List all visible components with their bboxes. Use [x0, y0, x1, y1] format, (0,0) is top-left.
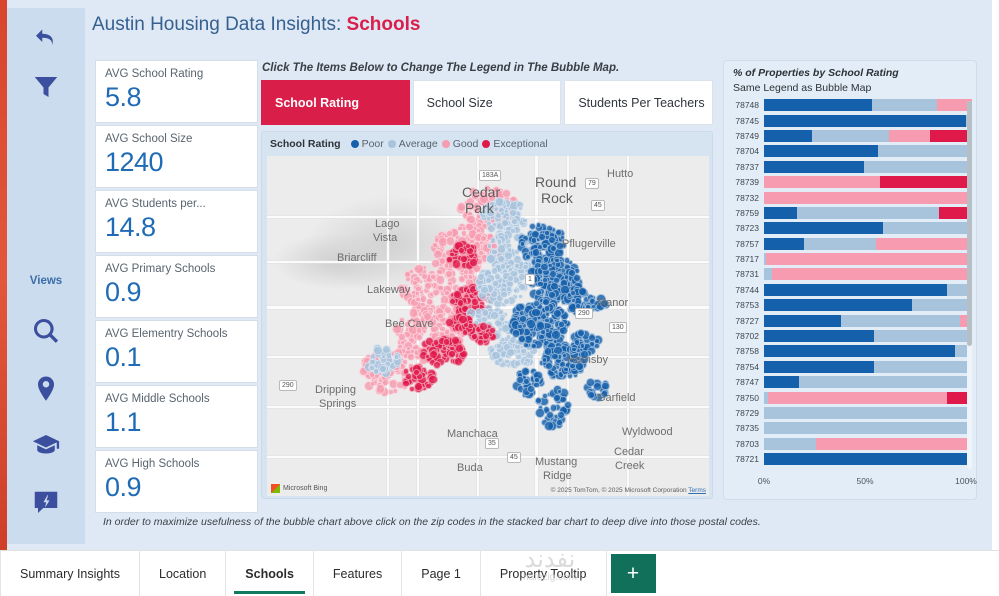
map-bubble[interactable]: [542, 277, 548, 283]
bar-chart-row[interactable]: 78754: [730, 360, 972, 374]
map-bubble[interactable]: [447, 281, 452, 286]
map-bubble[interactable]: [373, 346, 382, 355]
bar-row-track: [764, 315, 972, 327]
map-bubble[interactable]: [490, 311, 499, 320]
page-tab[interactable]: Property Tooltip: [481, 551, 607, 596]
legend-item: Average: [388, 138, 438, 150]
map-bubble[interactable]: [489, 327, 496, 334]
bar-segment[interactable]: [804, 238, 877, 250]
bar-chart-row[interactable]: 78717: [730, 252, 972, 266]
bar-row-zip-label[interactable]: 78735: [730, 423, 764, 433]
map-place-label: Dripping: [315, 384, 356, 396]
map-bubble[interactable]: [514, 344, 520, 350]
kpi-card[interactable]: AVG School Size1240: [95, 125, 258, 188]
bar-row-zip-label[interactable]: 78723: [730, 223, 764, 233]
page-tab[interactable]: Summary Insights: [0, 551, 140, 596]
bar-row-track: [764, 130, 972, 142]
bar-row-track: [764, 438, 972, 450]
kpi-label: AVG Primary Schools: [105, 263, 248, 276]
bar-row-zip-label[interactable]: 78757: [730, 239, 764, 249]
map-place-label: Briarcliff: [337, 252, 377, 264]
map-bubble[interactable]: [514, 263, 520, 269]
bar-segment[interactable]: [841, 315, 960, 327]
map-bubble[interactable]: [414, 382, 423, 391]
legend-tab[interactable]: School Size: [413, 80, 562, 125]
kpi-card[interactable]: AVG Middle Schools1.1: [95, 385, 258, 448]
left-icon-rail: Views: [7, 8, 85, 544]
kpi-card[interactable]: AVG Elementry Schools0.1: [95, 320, 258, 383]
kpi-value: 0.9: [105, 471, 248, 503]
bar-chart-row[interactable]: 78727: [730, 313, 972, 327]
bar-row-zip-label[interactable]: 78703: [730, 439, 764, 449]
legend-swatch-icon: [351, 140, 359, 148]
bar-segment[interactable]: [799, 376, 972, 388]
map-bubble[interactable]: [370, 381, 376, 387]
filter-icon[interactable]: [29, 70, 63, 104]
bar-row-track: [764, 422, 972, 434]
map-place-label: Mustang: [535, 456, 577, 468]
map-place-label: Cedar: [614, 446, 644, 458]
bar-chart-row[interactable]: 78739: [730, 175, 972, 189]
bar-segment[interactable]: [764, 284, 947, 296]
map-bubble[interactable]: [497, 239, 503, 245]
bar-segment[interactable]: [766, 253, 972, 265]
map-bubble[interactable]: [476, 228, 481, 233]
map-bubble[interactable]: [486, 254, 496, 264]
bar-row-track: [764, 192, 972, 204]
bar-row-track: [764, 407, 972, 419]
bar-segment[interactable]: [764, 376, 799, 388]
map-bubble[interactable]: [402, 380, 410, 388]
back-arrow-icon[interactable]: [29, 20, 63, 54]
map-bubble[interactable]: [379, 365, 387, 373]
map-bubble[interactable]: [533, 300, 540, 307]
page-title: Austin Housing Data Insights: Schools: [92, 14, 420, 36]
kpi-label: AVG School Size: [105, 133, 248, 146]
footer-note: In order to maximize usefulness of the b…: [103, 516, 761, 528]
page-tab-bar: Summary InsightsLocationSchoolsFeaturesP…: [0, 550, 999, 596]
map-bubble[interactable]: [538, 233, 546, 241]
map-bubble[interactable]: [526, 319, 536, 329]
bar-chart-row[interactable]: 78721: [730, 452, 972, 466]
map-highway-shield: 130: [609, 322, 627, 333]
bar-row-zip-label[interactable]: 78750: [730, 393, 764, 403]
map-bubble[interactable]: [507, 247, 512, 252]
bar-segment[interactable]: [878, 145, 972, 157]
bar-chart-row[interactable]: 78757: [730, 237, 972, 251]
map-bubble[interactable]: [564, 401, 572, 409]
bar-segment[interactable]: [883, 222, 972, 234]
map-bubble[interactable]: [563, 367, 568, 372]
bar-chart-row[interactable]: 78731: [730, 267, 972, 281]
map-bubble[interactable]: [455, 344, 464, 353]
bar-segment[interactable]: [764, 361, 874, 373]
map-bubble[interactable]: [556, 419, 562, 425]
bar-chart-row[interactable]: 78732: [730, 190, 972, 204]
page-tab[interactable]: Schools: [226, 551, 314, 596]
map-bubble[interactable]: [570, 290, 576, 296]
map-bubble[interactable]: [436, 275, 446, 285]
kpi-label: AVG Students per...: [105, 198, 248, 211]
map-place-label: Park: [465, 200, 494, 216]
map-place-label: Buda: [457, 462, 483, 474]
bar-row-track: [764, 330, 972, 342]
map-bubble[interactable]: [531, 308, 540, 317]
map-bubble[interactable]: [515, 354, 522, 361]
bar-chart-row[interactable]: 78723: [730, 221, 972, 235]
map-bubble[interactable]: [416, 334, 423, 341]
bar-segment[interactable]: [876, 238, 972, 250]
bar-row-zip-label[interactable]: 78739: [730, 177, 764, 187]
bar-chart-scrollbar[interactable]: [967, 101, 972, 469]
bar-row-zip-label[interactable]: 78731: [730, 269, 764, 279]
bar-row-zip-label[interactable]: 78759: [730, 208, 764, 218]
map-bubble[interactable]: [535, 408, 545, 418]
map-road: [627, 156, 629, 496]
map-bubble[interactable]: [388, 389, 394, 395]
bar-chart-row[interactable]: 78744: [730, 283, 972, 297]
map-bubble[interactable]: [571, 298, 576, 303]
map-bubble[interactable]: [482, 309, 489, 316]
map-bubble[interactable]: [485, 277, 492, 284]
map-bubble[interactable]: [436, 269, 442, 275]
bar-row-track: [764, 99, 972, 111]
bar-segment[interactable]: [764, 222, 883, 234]
bar-segment[interactable]: [764, 207, 797, 219]
bar-segment[interactable]: [768, 392, 947, 404]
bar-chart-row[interactable]: 78702: [730, 329, 972, 343]
bar-row-zip-label[interactable]: 78749: [730, 131, 764, 141]
kpi-value: 1.1: [105, 406, 248, 438]
map-bubble[interactable]: [532, 248, 540, 256]
map-bubble[interactable]: [586, 378, 595, 387]
map-bubble[interactable]: [571, 347, 576, 352]
map-place-label: Lakeway: [367, 284, 410, 296]
bar-chart-row[interactable]: 78758: [730, 344, 972, 358]
bar-row-zip-label[interactable]: 78754: [730, 362, 764, 372]
kpi-value: 5.8: [105, 81, 248, 113]
map-bubble[interactable]: [444, 306, 452, 314]
bar-chart-row[interactable]: 78749: [730, 129, 972, 143]
kpi-value: 0.1: [105, 341, 248, 373]
map-place-label: Hutto: [607, 168, 633, 180]
bar-row-track: [764, 268, 972, 280]
map-bubble[interactable]: [517, 324, 523, 330]
bar-chart-row[interactable]: 78703: [730, 437, 972, 451]
map-bubble[interactable]: [527, 385, 535, 393]
bar-row-zip-label[interactable]: 78704: [730, 146, 764, 156]
map-bubble[interactable]: [469, 258, 477, 266]
bar-chart-row[interactable]: 78745: [730, 113, 972, 127]
map-bubble[interactable]: [535, 289, 542, 296]
map-bubble[interactable]: [551, 330, 561, 340]
legend-selector-tabs: School RatingSchool SizeStudents Per Tea…: [261, 80, 713, 125]
bar-chart-title: % of Properties by School Rating: [733, 67, 899, 79]
map-bubble[interactable]: [462, 329, 468, 335]
legend-item: Good: [442, 138, 479, 150]
map-bubble[interactable]: [525, 254, 531, 260]
bar-row-track: [764, 376, 972, 388]
bar-segment[interactable]: [764, 315, 841, 327]
page-tab[interactable]: Page 1: [402, 551, 481, 596]
report-canvas: Views Austin Housing Data Insights: Scho…: [7, 0, 992, 550]
map-bubble[interactable]: [580, 343, 586, 349]
bar-segment[interactable]: [764, 238, 804, 250]
add-page-button[interactable]: +: [611, 554, 656, 593]
bar-segment[interactable]: [772, 268, 972, 280]
x-axis-tick-label: 0%: [758, 476, 770, 486]
bar-segment[interactable]: [764, 422, 972, 434]
map-bubble[interactable]: [520, 348, 526, 354]
bar-row-track: [764, 284, 972, 296]
bar-chart-row[interactable]: 78704: [730, 144, 972, 158]
map-bubble[interactable]: [536, 222, 541, 227]
map-bubble[interactable]: [421, 273, 428, 280]
bar-row-track: [764, 453, 972, 465]
bar-segment[interactable]: [912, 299, 972, 311]
legend-item-label: Poor: [362, 138, 384, 150]
map-highway-shield: 45: [591, 200, 605, 211]
bar-segment[interactable]: [864, 161, 968, 173]
map-bubble[interactable]: [500, 291, 508, 299]
bar-row-zip-label[interactable]: 78717: [730, 254, 764, 264]
window-edge-strip: [0, 0, 7, 550]
kpi-label: AVG High Schools: [105, 458, 248, 471]
kpi-value: 14.8: [105, 211, 248, 243]
bar-segment[interactable]: [764, 453, 970, 465]
bar-segment[interactable]: [816, 438, 972, 450]
map-bubble[interactable]: [448, 350, 456, 358]
map-road: [267, 356, 709, 358]
legend-item-label: Average: [399, 138, 438, 150]
map-bubble[interactable]: [544, 318, 549, 323]
graduation-cap-icon[interactable]: [29, 428, 63, 462]
bar-segment[interactable]: [930, 130, 972, 142]
bar-segment[interactable]: [812, 130, 889, 142]
legend-tab[interactable]: School Rating: [261, 80, 410, 125]
map-bubble[interactable]: [429, 292, 434, 297]
kpi-label: AVG School Rating: [105, 68, 248, 81]
map-bubble[interactable]: [540, 263, 548, 271]
kpi-card[interactable]: AVG Primary Schools0.9: [95, 255, 258, 318]
map-highway-shield: 183A: [479, 170, 501, 181]
bar-segment[interactable]: [889, 130, 931, 142]
bar-chart-row[interactable]: 78735: [730, 421, 972, 435]
map-bubble[interactable]: [503, 298, 510, 305]
map-bubble[interactable]: [477, 339, 483, 345]
bar-segment[interactable]: [764, 130, 812, 142]
map-highway-shield: 35: [485, 438, 499, 449]
bar-chart-x-axis: 0%50%100%: [764, 476, 966, 490]
bar-segment[interactable]: [764, 115, 966, 127]
map-bubble[interactable]: [449, 298, 456, 305]
bar-row-zip-label[interactable]: 78727: [730, 316, 764, 326]
bar-row-zip-label[interactable]: 78702: [730, 331, 764, 341]
bar-segment[interactable]: [874, 330, 972, 342]
legend-swatch-icon: [388, 140, 396, 148]
tooltip-icon[interactable]: [29, 486, 63, 520]
map-pin-icon[interactable]: [29, 372, 63, 406]
map-bubble[interactable]: [480, 235, 487, 242]
map-bubble[interactable]: [458, 315, 467, 324]
bar-row-track: [764, 222, 972, 234]
bar-chart-row[interactable]: 78753: [730, 298, 972, 312]
bar-row-track: [764, 207, 972, 219]
bar-row-track: [764, 145, 972, 157]
map-bubble[interactable]: [553, 309, 562, 318]
bubble-map[interactable]: HuttoRoundRockCedarParkLagoVistaBriarcli…: [267, 156, 709, 496]
bubble-map-panel[interactable]: School Rating PoorAverageGoodExceptional…: [261, 131, 713, 499]
kpi-label: AVG Elementry Schools: [105, 328, 248, 341]
map-provider-name: Microsoft Bing: [283, 485, 327, 492]
map-bubble[interactable]: [531, 237, 537, 243]
bar-chart-subtitle: Same Legend as Bubble Map: [733, 82, 871, 94]
map-bubble[interactable]: [479, 322, 488, 331]
map-bubble[interactable]: [543, 256, 549, 262]
bar-chart-scrollbar-thumb[interactable]: [967, 101, 972, 346]
kpi-card[interactable]: AVG High Schools0.9: [95, 450, 258, 513]
map-attribution: © 2025 TomTom, © 2025 Microsoft Corporat…: [551, 487, 706, 494]
map-bubble[interactable]: [465, 223, 474, 232]
map-place-label: Hornsby: [567, 354, 608, 366]
map-bubble[interactable]: [415, 286, 421, 292]
bar-chart-row[interactable]: 78729: [730, 406, 972, 420]
map-bubble[interactable]: [520, 241, 525, 246]
bar-row-track: [764, 238, 972, 250]
stacked-bar-panel: % of Properties by School Rating Same Le…: [723, 60, 977, 500]
map-bubble[interactable]: [461, 230, 467, 236]
map-bubble[interactable]: [511, 218, 518, 225]
map-highway-shield: 1: [525, 274, 535, 285]
map-place-label: Rock: [541, 190, 573, 206]
bar-segment[interactable]: [764, 192, 972, 204]
kpi-value: 1240: [105, 146, 248, 178]
map-legend-title: School Rating: [270, 138, 341, 150]
map-bubble[interactable]: [558, 321, 565, 328]
kpi-card[interactable]: AVG Students per...14.8: [95, 190, 258, 253]
map-terms-link[interactable]: Terms: [688, 487, 706, 494]
page-tab[interactable]: Features: [314, 551, 402, 596]
bar-segment[interactable]: [764, 407, 972, 419]
bar-row-zip-label[interactable]: 78745: [730, 116, 764, 126]
map-place-label: Bee Cave: [385, 318, 433, 330]
bar-chart-row[interactable]: 78748: [730, 98, 972, 112]
bar-row-zip-label[interactable]: 78747: [730, 377, 764, 387]
bar-chart-row[interactable]: 78759: [730, 206, 972, 220]
kpi-card-column: AVG School Rating5.8AVG School Size1240A…: [95, 60, 258, 515]
kpi-value: 0.9: [105, 276, 248, 308]
map-bubble[interactable]: [534, 377, 540, 383]
map-bubble[interactable]: [369, 365, 375, 371]
map-bubble[interactable]: [405, 373, 411, 379]
map-bubble[interactable]: [480, 286, 488, 294]
bar-chart-row[interactable]: 78737: [730, 160, 972, 174]
bar-segment[interactable]: [764, 161, 864, 173]
map-bubble[interactable]: [491, 351, 500, 360]
bar-row-zip-label[interactable]: 78758: [730, 346, 764, 356]
bar-segment[interactable]: [872, 99, 936, 111]
map-attribution-text: © 2025 TomTom, © 2025 Microsoft Corporat…: [551, 487, 687, 494]
legend-item-label: Good: [453, 138, 479, 150]
map-bubble[interactable]: [428, 375, 437, 384]
map-bubble[interactable]: [452, 259, 461, 268]
bar-segment[interactable]: [764, 345, 955, 357]
map-bubble[interactable]: [551, 353, 559, 361]
bar-row-zip-label[interactable]: 78744: [730, 285, 764, 295]
map-bubble[interactable]: [487, 243, 493, 249]
bar-row-zip-label[interactable]: 78732: [730, 193, 764, 203]
bar-row-zip-label[interactable]: 78721: [730, 454, 764, 464]
x-axis-tick-label: 100%: [955, 476, 977, 486]
bar-segment[interactable]: [880, 176, 972, 188]
bar-segment[interactable]: [764, 299, 912, 311]
map-place-label: Vista: [373, 232, 397, 244]
map-bubble[interactable]: [577, 329, 585, 337]
map-bubble[interactable]: [412, 280, 418, 286]
map-bubble[interactable]: [486, 216, 491, 221]
legend-tab[interactable]: Students Per Teachers: [564, 80, 713, 125]
bar-row-track: [764, 361, 972, 373]
bar-row-zip-label[interactable]: 78737: [730, 162, 764, 172]
bar-segment[interactable]: [764, 99, 872, 111]
map-bubble[interactable]: [482, 332, 490, 340]
map-highway-shield: 290: [279, 380, 297, 391]
views-label: Views: [7, 275, 85, 287]
map-bubble[interactable]: [468, 274, 473, 279]
bar-row-zip-label[interactable]: 78753: [730, 300, 764, 310]
bar-row-track: [764, 299, 972, 311]
map-legend: School Rating PoorAverageGoodExceptional: [262, 132, 712, 156]
map-highway-shield: 290: [575, 308, 593, 319]
page-tab[interactable]: Location: [140, 551, 226, 596]
bar-chart-row[interactable]: 78747: [730, 375, 972, 389]
map-bubble[interactable]: [497, 244, 506, 253]
bar-segment[interactable]: [764, 330, 874, 342]
map-bubble[interactable]: [544, 305, 550, 311]
map-highway-shield: 45: [507, 452, 521, 463]
bar-chart-row[interactable]: 78750: [730, 390, 972, 404]
bar-segment[interactable]: [874, 361, 972, 373]
bar-segment[interactable]: [797, 207, 938, 219]
bar-segment[interactable]: [764, 268, 772, 280]
map-bubble[interactable]: [553, 394, 561, 402]
map-place-label: Garfield: [597, 392, 636, 404]
map-bubble[interactable]: [554, 258, 559, 263]
map-bubble[interactable]: [500, 263, 506, 269]
map-bubble[interactable]: [475, 308, 481, 314]
map-place-label: Pflugerville: [562, 238, 616, 250]
bar-segment[interactable]: [764, 176, 880, 188]
map-bubble[interactable]: [477, 273, 485, 281]
bar-segment[interactable]: [764, 145, 878, 157]
map-provider-logo: Microsoft Bing: [271, 484, 327, 493]
bar-row-zip-label[interactable]: 78729: [730, 408, 764, 418]
bar-chart-plot[interactable]: 7874878745787497870478737787397873278759…: [730, 98, 972, 472]
bar-row-zip-label[interactable]: 78748: [730, 100, 764, 110]
map-bubble[interactable]: [433, 361, 441, 369]
map-bubble[interactable]: [522, 218, 528, 224]
map-bubble[interactable]: [386, 352, 392, 358]
kpi-card[interactable]: AVG School Rating5.8: [95, 60, 258, 123]
map-bubble[interactable]: [376, 384, 386, 394]
legend-item: Exceptional: [482, 138, 547, 150]
map-bubble[interactable]: [492, 222, 497, 227]
bar-segment[interactable]: [764, 438, 816, 450]
search-icon[interactable]: [29, 314, 63, 348]
bar-row-track: [764, 392, 972, 404]
map-bubble[interactable]: [536, 321, 546, 331]
map-place-label: Ridge: [543, 470, 572, 482]
